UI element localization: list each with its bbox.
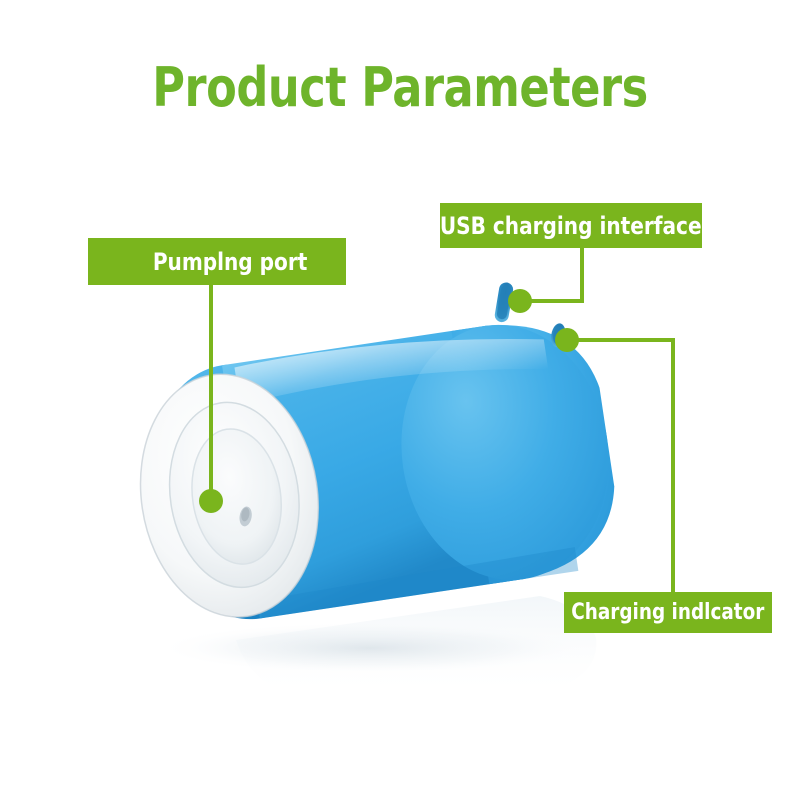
product-parameters-infographic: Product Parameters xyxy=(0,0,800,800)
callout-label-usb-charging-interface[interactable]: USB charging interface xyxy=(440,203,702,248)
callout-label-pumping-port-text: Pumplng port xyxy=(153,248,308,276)
usb-charging-slot xyxy=(494,281,514,323)
callout-label-pumping-port[interactable]: Pumplng port xyxy=(88,238,346,285)
product-illustration xyxy=(0,0,800,800)
callout-label-charging-indicator-text: Charging indlcator xyxy=(571,600,764,625)
callout-label-usb-charging-interface-text: USB charging interface xyxy=(440,212,702,240)
callout-label-charging-indicator[interactable]: Charging indlcator xyxy=(564,592,772,633)
product-body-group xyxy=(117,269,626,633)
